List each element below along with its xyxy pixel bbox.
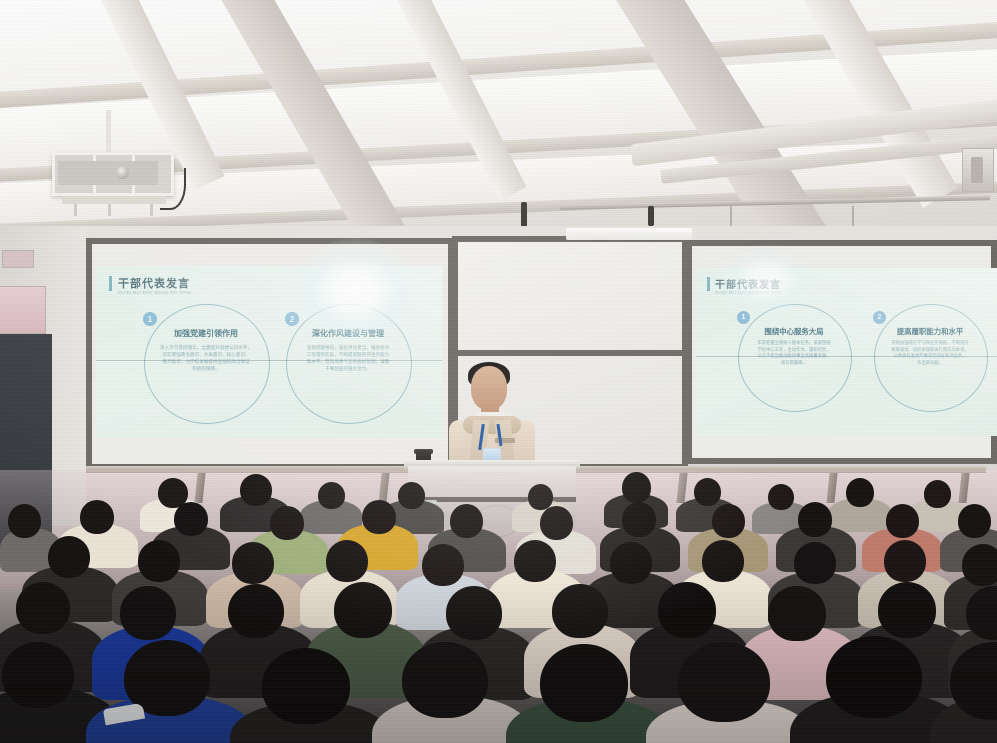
- audience-head: [658, 582, 716, 638]
- audience-head: [794, 542, 836, 584]
- slide-subtitle-right: GAN BU DAI BIAO FA YAN: [715, 291, 782, 296]
- slide-badge-right-2: 2: [873, 311, 886, 324]
- audience-head: [80, 500, 114, 534]
- audience-head: [240, 474, 272, 506]
- slide-body-2-line-2: 工作落到实处，不断提高服务师生的能力: [290, 351, 406, 358]
- audience-head: [16, 582, 70, 634]
- board-light-fixture: [566, 228, 692, 240]
- slide-badge-1: 1: [143, 312, 157, 326]
- slide-heading-2: 深化作风建设与管理: [286, 328, 410, 339]
- audience-head: [8, 504, 41, 538]
- projector-arm-mid: [108, 204, 111, 216]
- audience-head: [514, 540, 556, 582]
- slide-body-right-2-line-4: 作出新贡献。: [877, 360, 983, 367]
- audience-head: [262, 648, 350, 724]
- audience-head: [138, 540, 180, 582]
- audience-head: [884, 540, 926, 582]
- audience-head: [2, 642, 74, 708]
- slide-subtitle-left: GAN BU DAI BIAO FA YAN: [118, 291, 191, 296]
- audience-head: [826, 636, 922, 718]
- slide-body-2: 坚持问题导向，强化责任担当，推动各项 工作落到实处，不断提高服务师生的能力 和水…: [290, 344, 406, 372]
- wall-notice-small: [2, 250, 34, 268]
- audience-head: [552, 584, 608, 638]
- audience-head: [622, 472, 651, 503]
- whiteboard-center-divider: [458, 350, 682, 356]
- screen-seam-right: [696, 356, 997, 357]
- slide-title-right: 干部代表发言: [715, 276, 781, 291]
- audience-head: [48, 536, 90, 578]
- slide-badge-2: 2: [285, 312, 299, 326]
- projector-pole: [106, 110, 111, 156]
- audience-head: [232, 542, 274, 584]
- projector-bracket: [62, 196, 166, 204]
- slide-body-right-1: 牢牢把握立德树人根本任务，紧紧围绕 学校中心工作，主动作为、履职尽责， 以实干担…: [741, 340, 847, 367]
- audience-head: [174, 502, 208, 536]
- slide-title-accent-bar: [109, 276, 112, 291]
- ceiling-projector: [52, 152, 174, 196]
- audience-head: [270, 506, 304, 540]
- slide-body-1-line-4: 和组织保障。: [148, 365, 264, 372]
- projector-lens-icon: [116, 166, 129, 179]
- slide-body-right-2: 持续加强理论学习和业务锤炼，不断提升 统筹谋划、组织协调和执行落实的本领， 以更…: [877, 340, 983, 367]
- screen-seam-left: [96, 360, 442, 361]
- slide-title-accent-bar-right: [707, 277, 710, 291]
- slide-body-1-line-1: 深入学习贯彻落实，全面提升思想认识水平，: [148, 344, 264, 351]
- audience-head: [362, 500, 396, 534]
- audience-head: [540, 644, 628, 722]
- slide-body-right-1-line-4: 续写新篇章。: [741, 360, 847, 367]
- rail-hanger-1: [730, 206, 732, 228]
- slide-body-right-1-line-1: 牢牢把握立德树人根本任务，紧紧围绕: [741, 340, 847, 347]
- audience-head: [610, 542, 652, 584]
- projector-arm-right: [150, 204, 153, 216]
- audience-head: [398, 482, 425, 509]
- slide-body-1: 深入学习贯彻落实，全面提升思想认识水平， 切实增强政治意识、大局意识、核心意识、…: [148, 344, 264, 372]
- audience-head: [712, 504, 745, 538]
- slide-body-2-line-1: 坚持问题导向，强化责任担当，推动各项: [290, 344, 406, 351]
- audience-head: [678, 642, 770, 722]
- rail-hook-1: [521, 202, 527, 228]
- audience-head: [846, 478, 874, 507]
- audience-head: [446, 586, 502, 640]
- projection-screen-left: 干部代表发言 GAN BU DAI BIAO FA YAN 1 加强党建引领作用…: [96, 266, 442, 438]
- projector-arm-left: [74, 204, 77, 216]
- audience-head: [924, 480, 951, 508]
- speaker-person: [443, 362, 541, 472]
- audience-head: [702, 540, 744, 582]
- audience-head: [958, 504, 991, 538]
- audience-head: [402, 642, 488, 718]
- audience-head: [622, 502, 656, 537]
- audience-head: [798, 502, 832, 537]
- slide-body-2-line-4: 干事创业的强大合力。: [290, 365, 406, 372]
- audience-head: [768, 586, 826, 641]
- slide-body-right-2-line-1: 持续加强理论学习和业务锤炼，不断提升: [877, 340, 983, 347]
- audience-head: [326, 540, 368, 582]
- audience-head: [540, 506, 573, 540]
- slide-heading-right-1: 围绕中心服务大局: [738, 326, 850, 337]
- slide-body-1-line-2: 切实增强政治意识、大局意识、核心意识、: [148, 351, 264, 358]
- audience-head: [528, 484, 553, 510]
- audience-head: [768, 484, 794, 510]
- audience-head: [318, 482, 345, 509]
- audience-head: [962, 544, 997, 586]
- wall-speaker: [962, 148, 994, 192]
- rail-hook-2: [648, 206, 654, 226]
- projector-body: [58, 161, 158, 185]
- slide-badge-right-1: 1: [737, 311, 750, 324]
- audience-seating: [0, 470, 997, 743]
- audience-head: [886, 504, 919, 538]
- slide-heading-right-2: 提高履职能力和水平: [874, 326, 986, 337]
- wall-poster: [0, 286, 46, 334]
- audience-head: [450, 504, 483, 538]
- slide-heading-1: 加强党建引领作用: [144, 328, 268, 339]
- audience-head: [694, 478, 721, 506]
- slide-title-left: 干部代表发言: [118, 275, 190, 291]
- audience-head: [120, 586, 176, 640]
- rail-hanger-2: [852, 206, 854, 228]
- audience-head: [878, 582, 936, 638]
- audience-head: [228, 584, 284, 638]
- audience-head: [422, 544, 464, 586]
- lecture-hall-photo: 干部代表发言 GAN BU DAI BIAO FA YAN 1 加强党建引领作用…: [0, 0, 997, 743]
- projection-screen-right: 干部代表发言 GAN BU DAI BIAO FA YAN 1 围绕中心服务大局…: [696, 268, 997, 436]
- audience-head: [334, 582, 392, 638]
